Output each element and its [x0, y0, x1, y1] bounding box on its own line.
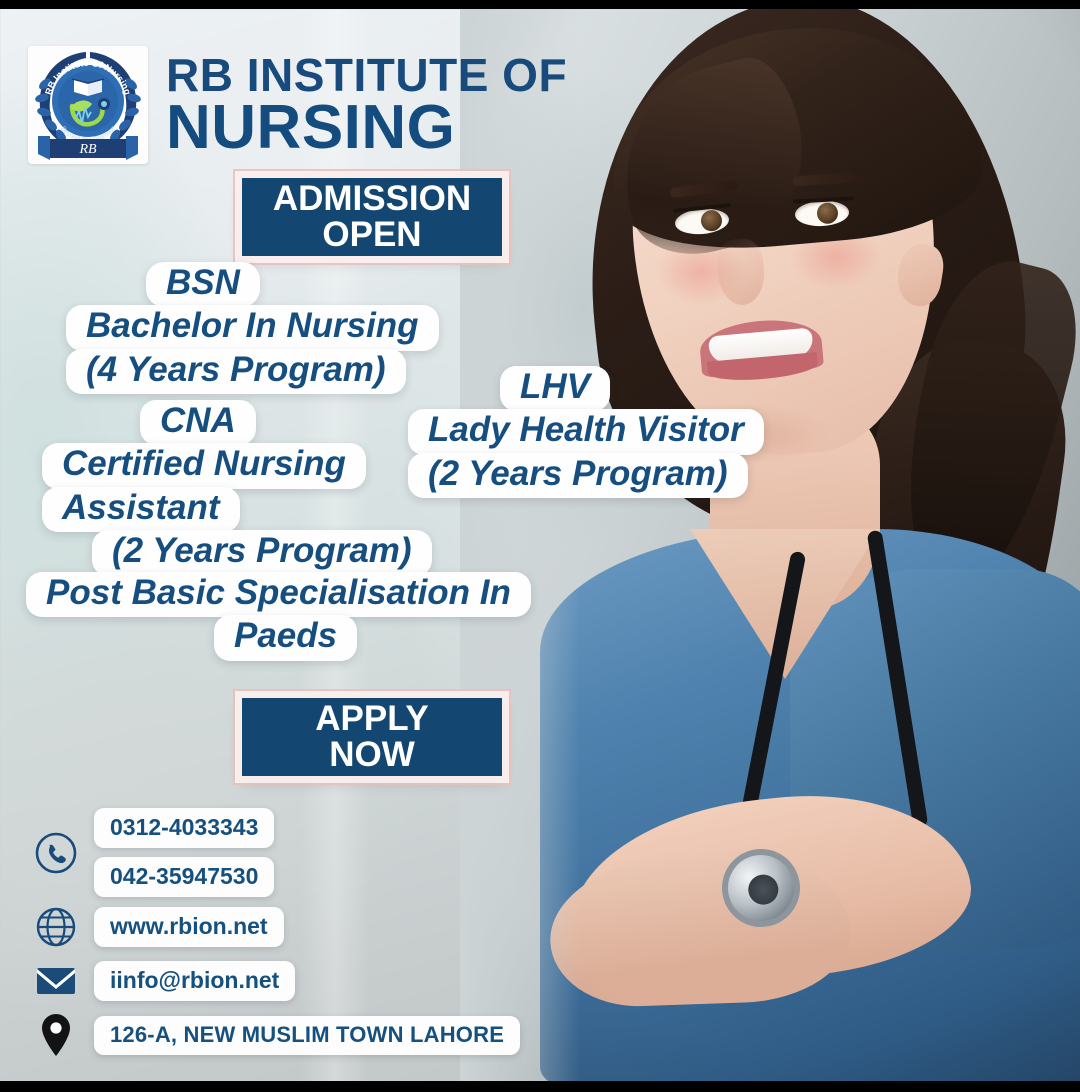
globe-icon	[32, 903, 80, 951]
rb-institute-logo: RB Institute Of Nursing Beyond The Glamo…	[28, 46, 148, 164]
letterbox-top-bar	[0, 0, 1080, 9]
envelope-icon	[32, 957, 80, 1005]
poster-root: RB Institute Of Nursing Beyond The Glamo…	[0, 0, 1080, 1092]
admission-open-banner: ADMISSION OPEN	[242, 178, 502, 256]
program-pbs-line-1: Paeds	[214, 615, 357, 660]
contact-row-email: iinfo@rbion.net	[32, 957, 520, 1005]
phone-circle-icon	[32, 829, 80, 877]
program-cna-line-1: Certified Nursing	[42, 443, 366, 488]
admission-open-line1: ADMISSION	[273, 181, 471, 217]
program-bsn-line-1: Bachelor In Nursing	[66, 305, 439, 350]
program-card-cna: CNA Certified Nursing Assistant (2 Years…	[34, 400, 432, 576]
contact-row-website: www.rbion.net	[32, 903, 520, 951]
program-cna-line-2: Assistant	[42, 487, 240, 532]
apply-now-line2: NOW	[329, 737, 415, 773]
admission-open-line2: OPEN	[322, 217, 421, 253]
program-cna-line-3: (2 Years Program)	[92, 530, 432, 575]
brand-header: RB Institute Of Nursing Beyond The Glamo…	[28, 46, 567, 164]
contact-block: 0312-4033343 042-35947530 www.rbion.net	[32, 808, 520, 1065]
brand-title: RB INSTITUTE OF NURSING	[166, 54, 567, 155]
website-url[interactable]: www.rbion.net	[94, 907, 284, 947]
program-bsn-line-0: BSN	[146, 262, 260, 307]
contact-row-address: 126-A, NEW MUSLIM TOWN LAHORE	[32, 1011, 520, 1059]
program-lhv-line-1: Lady Health Visitor	[408, 409, 764, 454]
program-lhv-line-2: (2 Years Program)	[408, 453, 748, 498]
brand-title-line2: NURSING	[166, 99, 567, 156]
program-cna-line-0: CNA	[140, 400, 256, 445]
program-card-lhv: LHV Lady Health Visitor (2 Years Program…	[400, 366, 764, 498]
program-bsn-line-2: (4 Years Program)	[66, 349, 406, 394]
program-pbs-line-0: Post Basic Specialisation In	[26, 572, 531, 617]
phone-number-secondary[interactable]: 042-35947530	[94, 857, 274, 897]
apply-now-button[interactable]: APPLY NOW	[242, 698, 502, 776]
program-card-bsn: BSN Bachelor In Nursing (4 Years Program…	[40, 262, 439, 394]
brand-title-line1: RB INSTITUTE OF	[166, 54, 567, 96]
phone-number-primary[interactable]: 0312-4033343	[94, 808, 274, 848]
email-address[interactable]: iinfo@rbion.net	[94, 961, 295, 1001]
logo-ribbon-text: RB	[78, 142, 97, 157]
contact-row-phone: 0312-4033343 042-35947530	[32, 808, 520, 897]
location-pin-icon	[32, 1011, 80, 1059]
apply-now-line1: APPLY	[315, 701, 428, 737]
program-card-post-basic: Post Basic Specialisation In Paeds	[16, 572, 531, 661]
letterbox-bottom-bar	[0, 1081, 1080, 1092]
program-lhv-line-0: LHV	[500, 366, 610, 411]
street-address: 126-A, NEW MUSLIM TOWN LAHORE	[94, 1016, 520, 1055]
